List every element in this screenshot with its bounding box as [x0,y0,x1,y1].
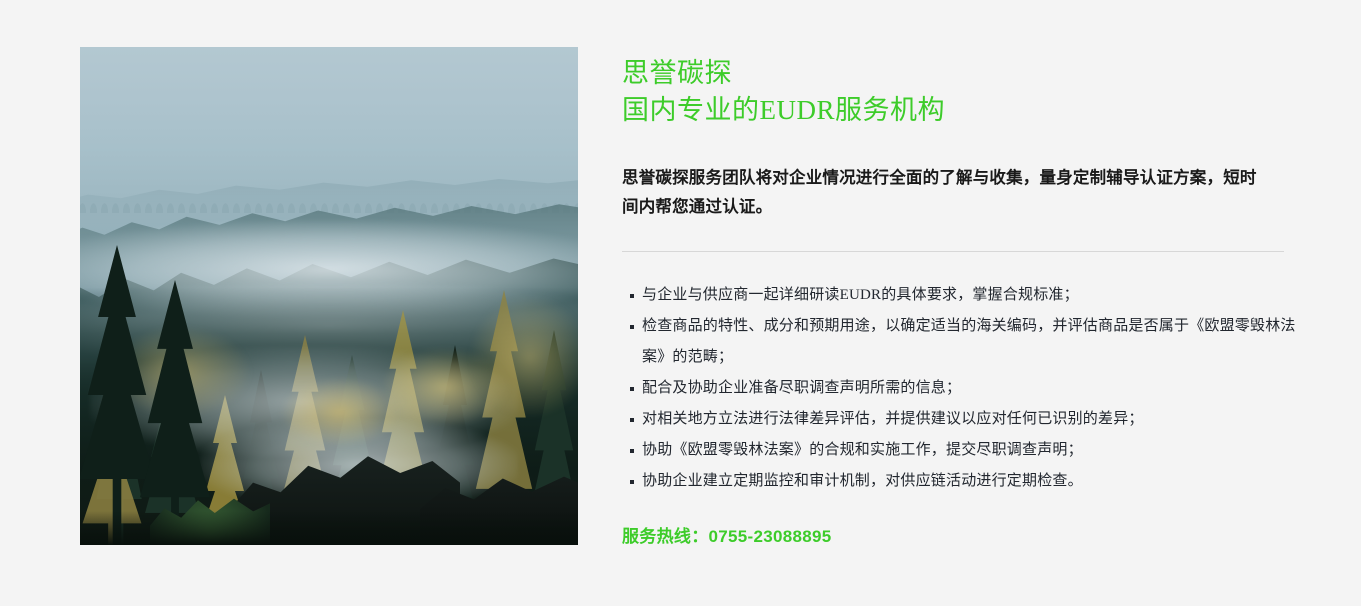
subtitle-paragraph: 思誉碳探服务团队将对企业情况进行全面的了解与收集，量身定制辅导认证方案，短时间内… [622,129,1272,221]
service-bullet-list: 与企业与供应商一起详细研读EUDR的具体要求，掌握合规标准； 检查商品的特性、成… [622,252,1284,497]
list-item-label: 协助企业建立定期监控和审计机制，对供应链活动进行定期检查。 [642,473,1083,489]
headline-line-2: 国内专业的EUDR服务机构 [622,92,1284,129]
list-item: 配合及协助企业准备尽职调查声明所需的信息； [622,373,1302,404]
square-bullet-icon [630,480,634,484]
promo-content: 思誉碳探 国内专业的EUDR服务机构 思誉碳探服务团队将对企业情况进行全面的了解… [622,47,1284,547]
service-hotline[interactable]: 服务热线：0755-23088895 [622,497,1284,547]
page-title: 思誉碳探 国内专业的EUDR服务机构 [622,47,1284,129]
foreground-floor [80,511,578,545]
list-item-label: 配合及协助企业准备尽职调查声明所需的信息； [642,380,961,396]
forest-photo [80,47,578,545]
list-item: 与企业与供应商一起详细研读EUDR的具体要求，掌握合规标准； [622,280,1302,311]
list-item-label: 对相关地方立法进行法律差异评估，并提供建议以应对任何已识别的差异； [642,411,1144,427]
square-bullet-icon [630,418,634,422]
forest-photo-canvas [80,47,578,545]
list-item: 协助企业建立定期监控和审计机制，对供应链活动进行定期检查。 [622,466,1302,497]
square-bullet-icon [630,325,634,329]
list-item-label: 协助《欧盟零毁林法案》的合规和实施工作，提交尽职调查声明； [642,442,1083,458]
square-bullet-icon [630,294,634,298]
headline-line-1: 思誉碳探 [622,55,1284,92]
list-item-label: 检查商品的特性、成分和预期用途，以确定适当的海关编码，并评估商品是否属于《欧盟零… [642,318,1296,365]
promo-page: 思誉碳探 国内专业的EUDR服务机构 思誉碳探服务团队将对企业情况进行全面的了解… [0,0,1361,606]
list-item: 协助《欧盟零毁林法案》的合规和实施工作，提交尽职调查声明； [622,435,1302,466]
list-item-label: 与企业与供应商一起详细研读EUDR的具体要求，掌握合规标准； [642,287,1079,303]
square-bullet-icon [630,449,634,453]
list-item: 检查商品的特性、成分和预期用途，以确定适当的海关编码，并评估商品是否属于《欧盟零… [622,311,1302,373]
sunlit-canopy-4 [470,297,578,417]
square-bullet-icon [630,387,634,391]
list-item: 对相关地方立法进行法律差异评估，并提供建议以应对任何已识别的差异； [622,404,1302,435]
